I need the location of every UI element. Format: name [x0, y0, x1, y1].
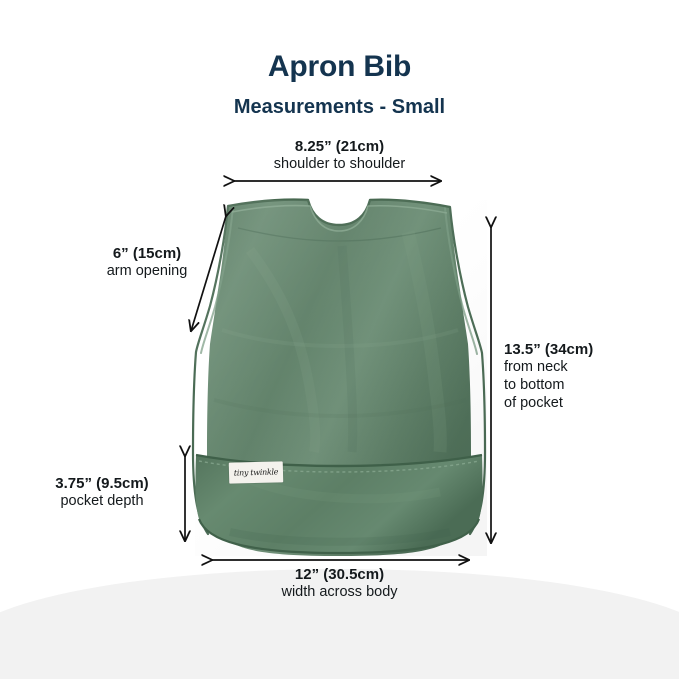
label-width-across-body: 12” (30.5cm) width across body	[0, 566, 679, 602]
measurement-diagram-page: Apron Bib Measurements - Small	[0, 0, 679, 679]
label-arm-value: 6” (15cm)	[62, 245, 232, 263]
label-height-value: 13.5” (34cm)	[504, 341, 593, 359]
label-width-value: 12” (30.5cm)	[0, 566, 679, 584]
label-arm-desc: arm opening	[62, 263, 232, 281]
label-width-desc: width across body	[0, 584, 679, 602]
label-pocket-desc: pocket depth	[22, 493, 182, 511]
brand-tag-text: tiny twinkle	[229, 461, 284, 483]
label-height-desc-2: to bottom	[504, 377, 593, 395]
brand-tag: tiny twinkle	[229, 461, 284, 483]
label-height-desc-1: from neck	[504, 359, 593, 377]
label-shoulder-value: 8.25” (21cm)	[0, 138, 679, 156]
label-pocket-depth: 3.75” (9.5cm) pocket depth	[22, 475, 182, 511]
label-shoulder-to-shoulder: 8.25” (21cm) shoulder to shoulder	[0, 138, 679, 174]
label-pocket-value: 3.75” (9.5cm)	[22, 475, 182, 493]
label-height-desc-3: of pocket	[504, 395, 593, 413]
label-arm-opening: 6” (15cm) arm opening	[62, 245, 232, 281]
label-neck-to-pocket: 13.5” (34cm) from neck to bottom of pock…	[504, 341, 593, 412]
label-shoulder-desc: shoulder to shoulder	[0, 156, 679, 174]
